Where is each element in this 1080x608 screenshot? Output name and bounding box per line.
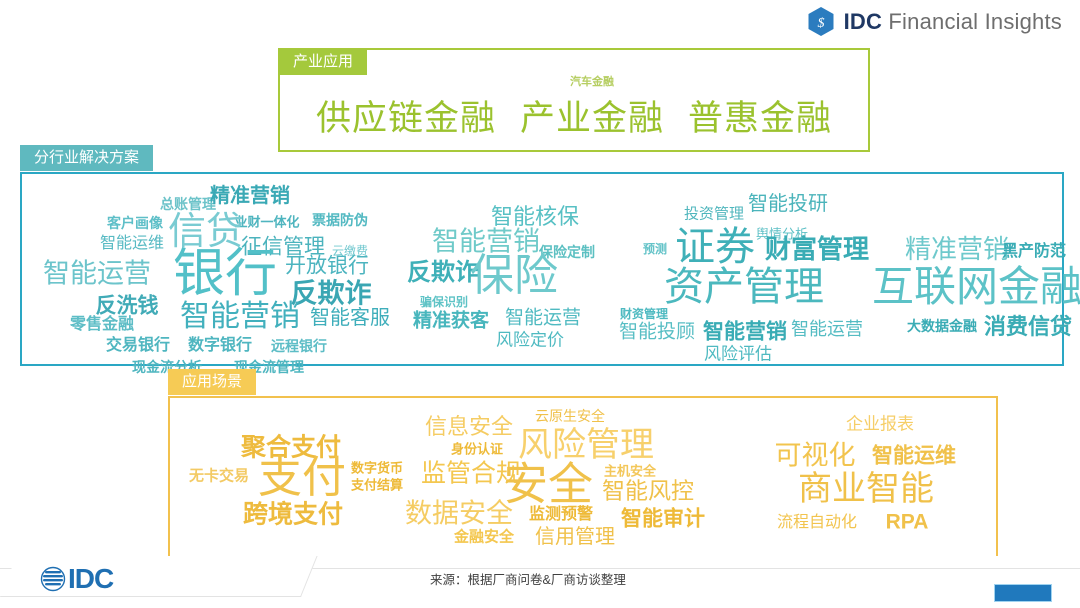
panel-application-scenario: 应用场景 聚合支付无卡交易支付数字货币支付结算跨境支付信息安全身份认证云原生安全…	[168, 396, 998, 558]
wordcloud-word: 精准营销	[905, 236, 1009, 262]
wordcloud-word: 证券	[675, 227, 755, 267]
industry-word: 普惠金融	[688, 90, 832, 141]
wordcloud-word: 客户画像	[107, 216, 163, 230]
wordcloud-word: 风险定价	[496, 332, 564, 349]
page-header: $ IDC Financial Insights	[0, 0, 1080, 46]
industry-word: 供应链金融	[316, 90, 496, 141]
footer-idc-lockup: IDC	[40, 563, 113, 595]
source-note: 来源：根据厂商问卷&厂商访谈整理	[430, 569, 626, 588]
wordcloud-word: 智能运维	[872, 446, 956, 467]
wordcloud-word: 数据安全	[405, 501, 513, 528]
wordcloud-word: 开放银行	[285, 256, 369, 277]
brand-title-bold: IDC	[844, 9, 883, 34]
wordcloud-word: 企业报表	[846, 416, 914, 433]
svg-text:$: $	[817, 16, 824, 31]
idc-striped-circle-logo-icon	[40, 566, 66, 592]
wordcloud-word: 黑产防范	[1002, 244, 1066, 260]
wordcloud-word: 智能运营	[43, 261, 151, 288]
wordcloud-word: 金融安全	[454, 530, 514, 545]
wordcloud-word: 反欺诈	[407, 261, 479, 285]
wordcloud-word: 智能营销	[180, 302, 300, 332]
wordcloud-word: 监测预警	[529, 507, 593, 523]
wordcloud-solutions: 总账管理精准营销客户画像业财一体化票据防伪信贷征信管理云缴费智能运维智能运营银行…	[22, 174, 1062, 364]
panel-industry-solutions: 分行业解决方案 总账管理精准营销客户画像业财一体化票据防伪信贷征信管理云缴费智能…	[20, 172, 1064, 366]
wordcloud-word: 智能客服	[310, 308, 390, 328]
brand-lockup: $ IDC Financial Insights	[807, 6, 1062, 37]
wordcloud-word: 风险管理	[518, 428, 654, 462]
wordcloud-word: 大数据金融	[907, 319, 977, 333]
idc-hexagon-dollar-logo-icon: $	[807, 6, 835, 37]
brand-title-rest: Financial Insights	[882, 9, 1062, 34]
wordcloud-word: 无卡交易	[189, 469, 249, 484]
wordcloud-word: 支付结算	[351, 479, 403, 492]
wordcloud-word: 反欺诈	[291, 281, 372, 308]
wordcloud-word: 骗保识别	[420, 296, 468, 308]
wordcloud-scenario: 聚合支付无卡交易支付数字货币支付结算跨境支付信息安全身份认证云原生安全风险管理监…	[170, 398, 996, 556]
wordcloud-word: 身份认证	[451, 443, 503, 456]
wordcloud-word: 信用管理	[535, 527, 615, 547]
wordcloud-word: 消费信贷	[984, 316, 1072, 338]
wordcloud-word: 财富管理	[765, 236, 869, 262]
wordcloud-word: 银行	[173, 248, 277, 300]
wordcloud-word: 可视化	[775, 443, 856, 470]
wordcloud-word: 投资管理	[684, 207, 744, 222]
wordcloud-word: 资产管理	[664, 267, 824, 307]
wordcloud-word: 总账管理	[160, 197, 216, 211]
wordcloud-word: 远程银行	[271, 339, 327, 353]
panel-solutions-tag: 分行业解决方案	[20, 145, 153, 171]
wordcloud-word: RPA	[886, 512, 929, 533]
wordcloud-word: 精准营销	[210, 186, 290, 206]
wordcloud-word: 智能核保	[491, 206, 579, 228]
wordcloud-word: 业财一体化	[234, 216, 299, 229]
wordcloud-word: 商业智能	[798, 472, 934, 506]
panel-industry-application: 产业应用 供应链金融 汽车金融 产业金融 普惠金融	[278, 48, 870, 152]
wordcloud-word: 智能运维	[100, 236, 164, 252]
wordcloud-word: 跨境支付	[243, 503, 343, 528]
wordcloud-word: 智能运营	[791, 320, 863, 338]
footer-blue-block	[994, 584, 1052, 602]
wordcloud-word: 信息安全	[425, 416, 513, 438]
wordcloud-word: 智能运营	[505, 309, 581, 328]
panel-industry-tag: 产业应用	[279, 49, 367, 75]
industry-word: 产业金融	[520, 90, 664, 141]
brand-title: IDC Financial Insights	[844, 9, 1062, 35]
wordcloud-word: 安全	[503, 462, 593, 507]
panel-scenario-tag: 应用场景	[168, 369, 256, 395]
wordcloud-word: 精准获客	[413, 312, 489, 331]
wordcloud-word: 智能投顾	[619, 323, 695, 342]
wordcloud-word: 数字银行	[188, 338, 252, 354]
wordcloud-word: 主机安全	[604, 465, 656, 478]
wordcloud-word: 支付	[258, 456, 346, 500]
industry-word-group: 汽车金融 产业金融	[520, 90, 664, 141]
wordcloud-word: 交易银行	[106, 338, 170, 354]
wordcloud-word: 智能审计	[621, 509, 705, 530]
wordcloud-word: 预测	[643, 243, 667, 255]
page-footer: IDC 来源：根据厂商问卷&厂商访谈整理	[0, 556, 1080, 608]
wordcloud-word: 数字货币	[351, 462, 403, 475]
wordcloud-word: 保险	[470, 254, 558, 298]
wordcloud-word: 风险评估	[704, 346, 772, 363]
wordcloud-word: 云原生安全	[535, 409, 605, 423]
wordcloud-word: 智能营销	[703, 322, 787, 343]
wordcloud-word: 互联网金融	[872, 266, 1080, 308]
industry-word-row: 供应链金融 汽车金融 产业金融 普惠金融	[280, 80, 868, 150]
footer-idc-text: IDC	[68, 563, 113, 595]
wordcloud-word: 反洗钱	[96, 296, 159, 317]
wordcloud-word: 智能风控	[602, 480, 694, 503]
industry-word-sub: 汽车金融	[570, 73, 614, 89]
wordcloud-word: 智能投研	[748, 194, 828, 214]
wordcloud-word: 财资管理	[620, 308, 668, 320]
wordcloud-word: 流程自动化	[777, 515, 857, 531]
wordcloud-word: 零售金融	[70, 317, 134, 333]
wordcloud-word: 票据防伪	[312, 213, 368, 227]
